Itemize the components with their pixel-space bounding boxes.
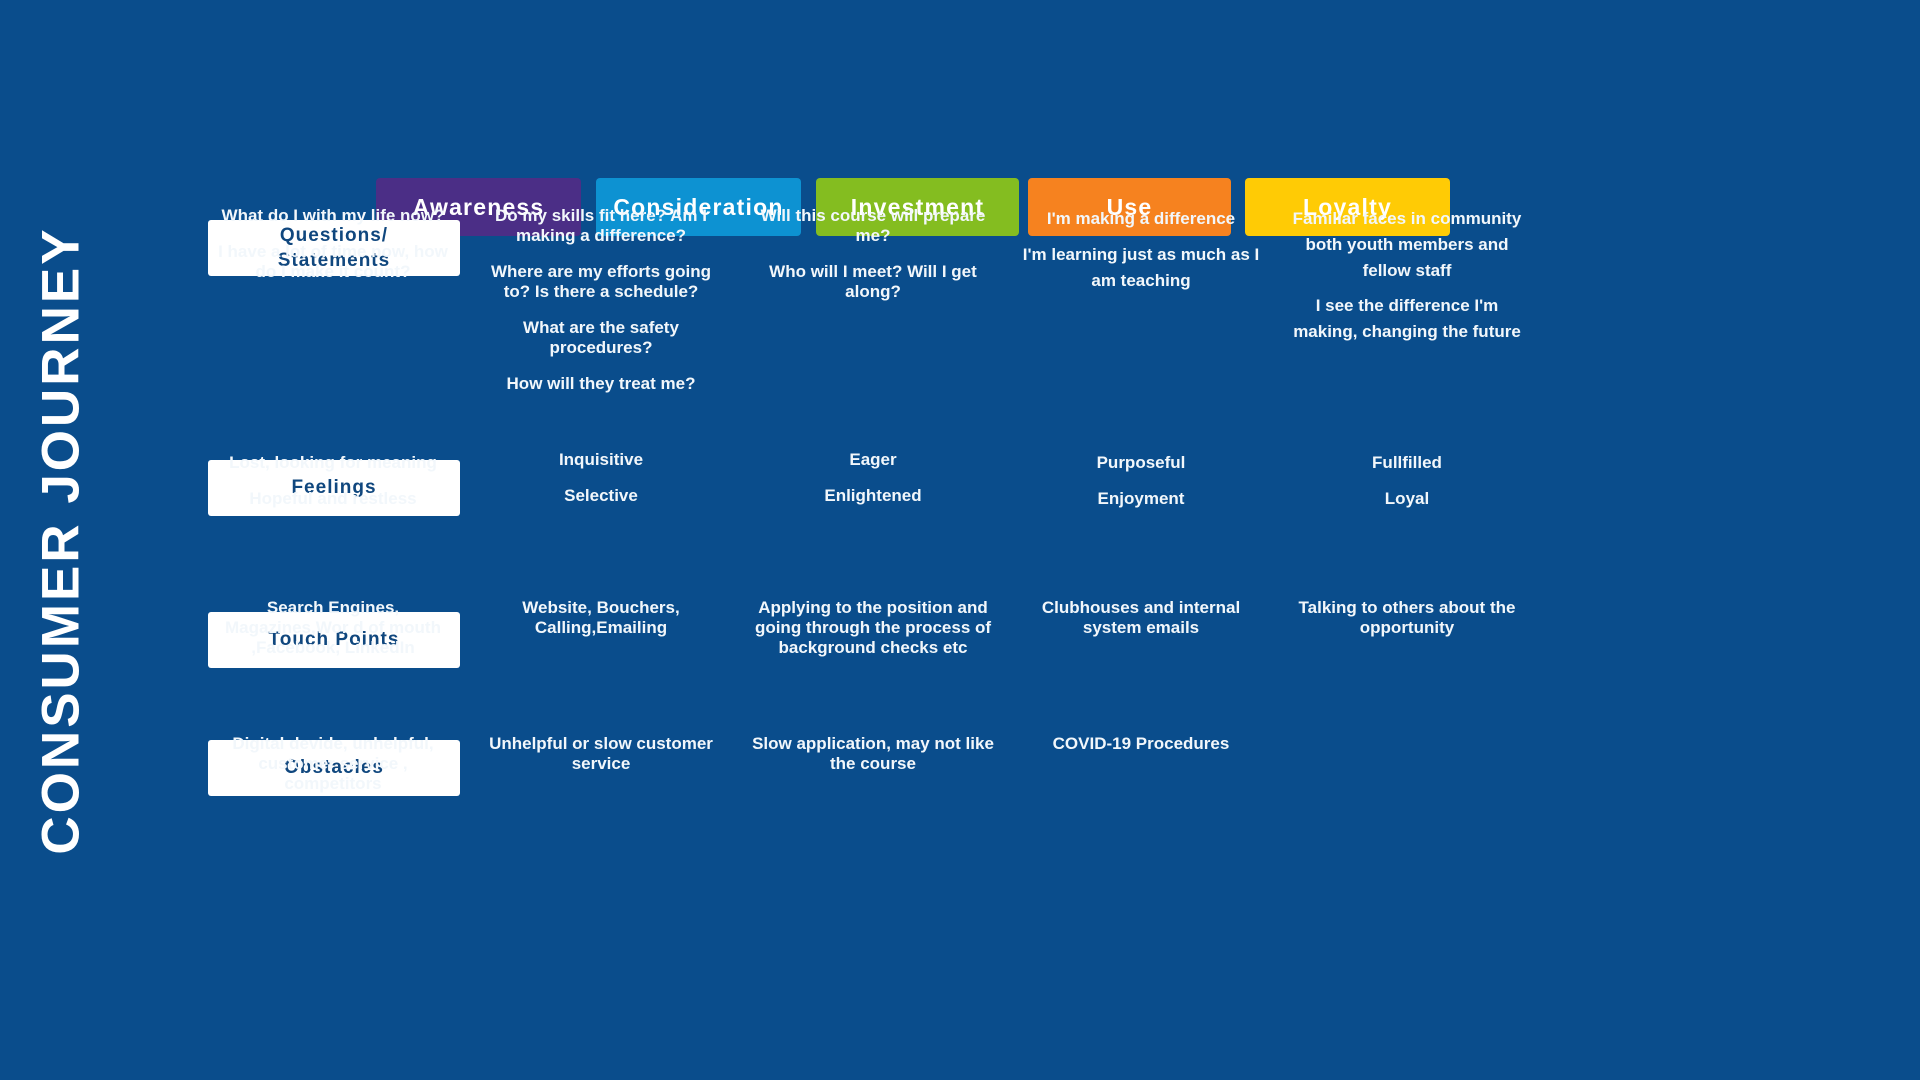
cell-questions-statements-loyalty: Familiar faces in community both youth m…	[1282, 206, 1532, 355]
cell-questions-statements-awareness: What do I with my life now?I have a lot …	[208, 206, 458, 282]
cell-entry: Website, Bouchers, Calling,Emailing	[476, 598, 726, 638]
cell-entry: Hopeful and restless	[208, 486, 458, 512]
cell-questions-statements-use: I'm making a differenceI'm learning just…	[1016, 206, 1266, 303]
cell-entry: How will they treat me?	[476, 374, 726, 394]
cell-touch-points-use: Clubhouses and internal system emails	[1016, 598, 1266, 638]
cell-entry: Do my skills fit here? Am I making a dif…	[476, 206, 726, 246]
cell-questions-statements-investment: Will this course will prepare me?Who wil…	[748, 206, 998, 302]
cell-entry: Slow application, may not like the cours…	[748, 734, 998, 774]
cell-obstacles-consideration: Unhelpful or slow customer service	[476, 734, 726, 774]
cell-entry: Selective	[476, 486, 726, 506]
page-title: CONSUMER JOURNEY	[18, 0, 104, 1080]
cell-feelings-loyalty: FullfilledLoyal	[1282, 450, 1532, 522]
cell-entry: Search Engines, Magazines,Wor d of mouth…	[208, 598, 458, 658]
cell-entry: Familiar faces in community both youth m…	[1282, 206, 1532, 283]
cell-entry: Who will I meet? Will I get along?	[748, 262, 998, 302]
cell-entry: Enlightened	[748, 486, 998, 506]
cell-entry: Purposeful	[1016, 450, 1266, 476]
cell-entry: I have a lot of time now, how do I make …	[208, 242, 458, 282]
cell-entry: Clubhouses and internal system emails	[1016, 598, 1266, 638]
cell-entry: I'm making a difference	[1016, 206, 1266, 232]
cell-entry: Fullfilled	[1282, 450, 1532, 476]
cell-touch-points-consideration: Website, Bouchers, Calling,Emailing	[476, 598, 726, 638]
cell-entry: COVID-19 Procedures	[1016, 734, 1266, 754]
cell-entry: Where are my efforts going to? Is there …	[476, 262, 726, 302]
cell-entry: Eager	[748, 450, 998, 470]
cell-entry: Lost, looking for meaning	[208, 450, 458, 476]
cell-entry: Will this course will prepare me?	[748, 206, 998, 246]
cell-entry: Loyal	[1282, 486, 1532, 512]
cell-feelings-awareness: Lost, looking for meaningHopeful and res…	[208, 450, 458, 522]
cell-entry: Enjoyment	[1016, 486, 1266, 512]
cell-feelings-investment: EagerEnlightened	[748, 450, 998, 506]
cell-entry: I'm learning just as much as I am teachi…	[1016, 242, 1266, 294]
cell-questions-statements-consideration: Do my skills fit here? Am I making a dif…	[476, 206, 726, 394]
cell-entry: Applying to the position and going throu…	[748, 598, 998, 658]
page-title-text: CONSUMER JOURNEY	[31, 226, 92, 854]
cell-entry: I see the difference I'm making, changin…	[1282, 293, 1532, 345]
cell-touch-points-loyalty: Talking to others about the opportunity	[1282, 598, 1532, 638]
cell-obstacles-use: COVID-19 Procedures	[1016, 734, 1266, 754]
cell-feelings-consideration: InquisitiveSelective	[476, 450, 726, 506]
cell-entry: Talking to others about the opportunity	[1282, 598, 1532, 638]
cell-entry: What do I with my life now?	[208, 206, 458, 226]
cell-entry: What are the safety procedures?	[476, 318, 726, 358]
journey-grid: AwarenessConsiderationInvestmentUseLoyal…	[208, 178, 1898, 1028]
cell-entry: Inquisitive	[476, 450, 726, 470]
cell-feelings-use: PurposefulEnjoyment	[1016, 450, 1266, 522]
cell-entry: Digital devide, unhelpful, customer serv…	[208, 734, 458, 794]
cell-obstacles-investment: Slow application, may not like the cours…	[748, 734, 998, 774]
cell-obstacles-awareness: Digital devide, unhelpful, customer serv…	[208, 734, 458, 794]
cell-entry: Unhelpful or slow customer service	[476, 734, 726, 774]
cell-touch-points-awareness: Search Engines, Magazines,Wor d of mouth…	[208, 598, 458, 658]
cell-touch-points-investment: Applying to the position and going throu…	[748, 598, 998, 658]
consumer-journey-board: CONSUMER JOURNEY AwarenessConsiderationI…	[0, 0, 1920, 1080]
